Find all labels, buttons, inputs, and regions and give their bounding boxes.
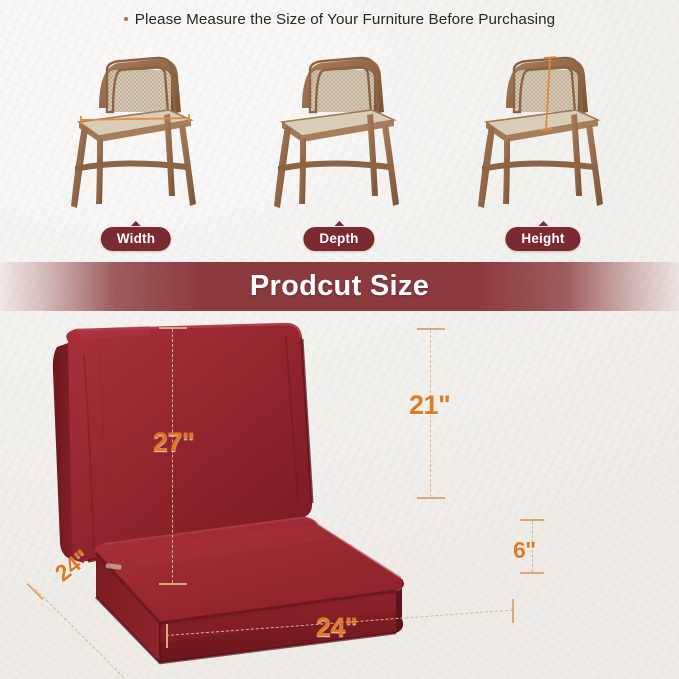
dim-21-cap-top bbox=[417, 328, 445, 330]
badge-pointer-icon bbox=[131, 221, 141, 226]
product-size-banner: Prodcut Size bbox=[0, 262, 679, 311]
badge-pointer-icon bbox=[334, 221, 344, 226]
dim-6-cap-bottom bbox=[520, 572, 544, 574]
badge-text: Depth bbox=[303, 227, 374, 251]
chair-card-height: Height bbox=[430, 46, 656, 262]
dim-21-cap-bottom bbox=[417, 497, 445, 499]
dim-label-seat-thickness: 6" bbox=[513, 537, 536, 564]
dim-label-overall-height: 27" bbox=[153, 427, 194, 458]
badge-text: Height bbox=[505, 227, 580, 251]
page-headline: Please Measure the Size of Your Furnitur… bbox=[0, 11, 679, 28]
chair-depth-icon bbox=[254, 46, 424, 226]
chair-label-width: Width bbox=[101, 221, 171, 251]
measure-instruction-section: Please Measure the Size of Your Furnitur… bbox=[0, 0, 679, 262]
badge-pointer-icon bbox=[538, 221, 548, 226]
chair-width-icon bbox=[51, 46, 221, 226]
dim-27-cap-top bbox=[159, 327, 187, 329]
badge-text: Width bbox=[101, 227, 171, 251]
chair-card-depth: Depth bbox=[226, 46, 452, 262]
chair-label-height: Height bbox=[505, 221, 580, 251]
headline-text: Please Measure the Size of Your Furnitur… bbox=[135, 11, 555, 28]
chair-label-depth: Depth bbox=[303, 221, 374, 251]
chair-height-icon bbox=[458, 46, 628, 226]
chair-card-width: Width bbox=[23, 46, 249, 262]
dim-width-cap-right bbox=[512, 599, 514, 623]
product-size-section: 27" 21" 24" 6" 24" 6 Inches bbox=[0, 311, 679, 679]
dim-label-back-height: 21" bbox=[409, 390, 450, 421]
bullet-dot-icon bbox=[124, 17, 128, 21]
banner-title: Prodcut Size bbox=[250, 270, 429, 303]
dim-27-cap-bottom bbox=[159, 583, 187, 585]
dim-width-cap-left bbox=[166, 624, 168, 648]
dim-label-seat-width: 24" bbox=[316, 612, 357, 643]
